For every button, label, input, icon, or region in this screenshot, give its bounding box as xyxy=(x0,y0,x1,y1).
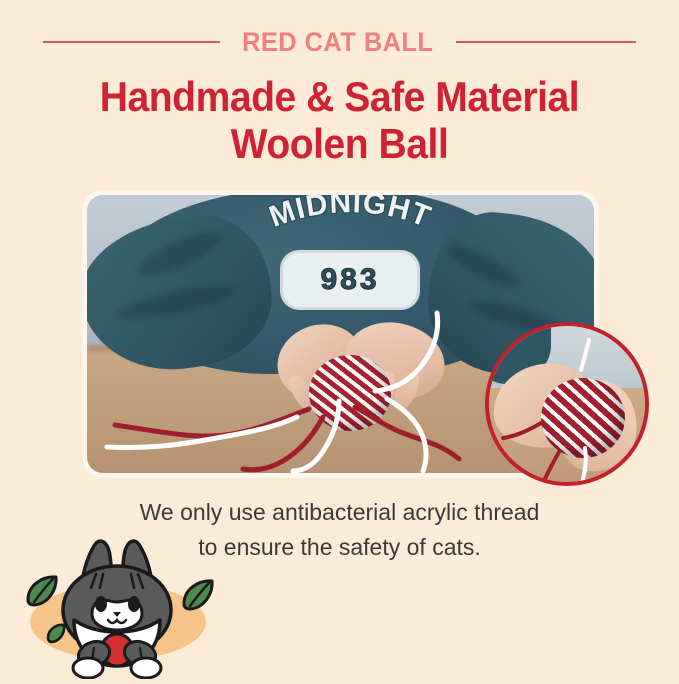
cat-mascot xyxy=(0,528,240,679)
eyebrow-row: RED CAT BALL xyxy=(0,26,679,58)
cat-eye-left xyxy=(95,596,107,612)
page-title-line-1: Handmade & Safe Material xyxy=(24,73,655,120)
page-title: Handmade & Safe Material Woolen Ball xyxy=(0,73,679,167)
cat-eye-right xyxy=(128,596,140,612)
woolen-ball-closeup xyxy=(485,322,649,486)
divider-line-right xyxy=(456,41,636,43)
caption-line-1: We only use antibacterial acrylic thread xyxy=(0,495,679,530)
divider-line-left xyxy=(43,41,220,43)
header-section: RED CAT BALL Handmade & Safe Material Wo… xyxy=(0,0,679,180)
inset-yarn-strands xyxy=(489,326,649,486)
leaf-icon xyxy=(184,581,212,609)
eyebrow-label: RED CAT BALL xyxy=(242,27,433,58)
page-title-line-2: Woolen Ball xyxy=(24,120,655,167)
